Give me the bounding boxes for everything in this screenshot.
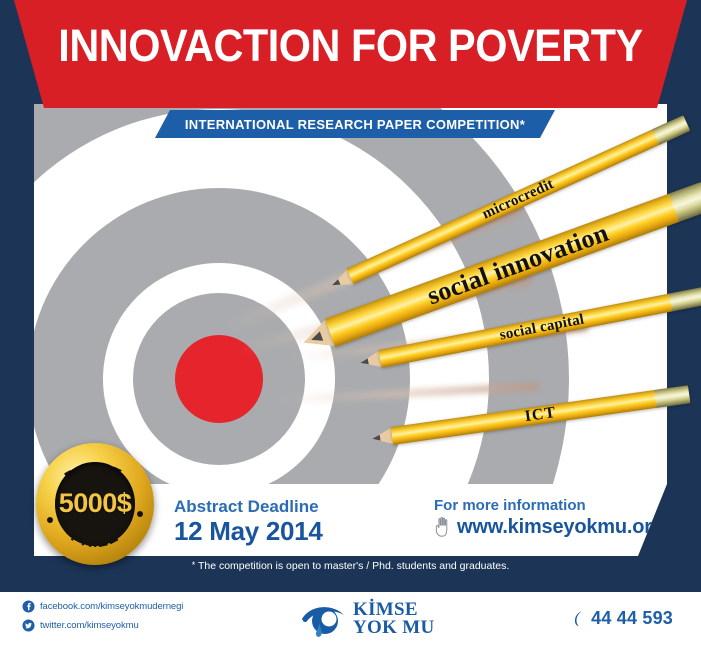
deadline-label: Abstract Deadline	[174, 496, 323, 517]
phone-contact[interactable]: 44 44 593	[572, 608, 673, 629]
logo-line-2: YOK MU	[353, 619, 434, 637]
deadline-block: Abstract Deadline 12 May 2014	[174, 496, 323, 546]
facebook-link[interactable]: facebook.com/kimseyokmudernegi	[22, 600, 183, 613]
prize-amount: 5000$	[36, 488, 154, 519]
phone-number: 44 44 593	[591, 608, 673, 629]
twitter-handle: twitter.com/kimseyokmu	[40, 620, 139, 631]
more-info-block: For more information www.kimseyokmu.org.…	[434, 496, 683, 539]
target-graphic	[34, 104, 667, 484]
eye-teardrop-icon	[299, 597, 351, 641]
page-title: INNOVACTION FOR POVERTY	[28, 23, 673, 68]
subtitle-banner: INTERNATIONAL RESEARCH PAPER COMPETITION…	[155, 110, 555, 138]
prize-badge: PRIZE PRIZE 5000$	[36, 443, 154, 565]
twitter-icon	[22, 619, 35, 632]
footer: facebook.com/kimseyokmudernegi twitter.c…	[0, 592, 701, 652]
twitter-link[interactable]: twitter.com/kimseyokmu	[22, 619, 183, 632]
more-info-url-row[interactable]: www.kimseyokmu.org.tr	[434, 516, 683, 539]
more-info-label: For more information	[434, 496, 683, 516]
facebook-handle: facebook.com/kimseyokmudernegi	[40, 601, 183, 612]
subtitle-text: INTERNATIONAL RESEARCH PAPER COMPETITION…	[185, 117, 525, 132]
pointing-hand-icon	[434, 516, 453, 538]
footnote-asterisk: *	[192, 560, 196, 570]
deadline-date: 12 May 2014	[174, 517, 323, 546]
facebook-icon	[22, 600, 35, 613]
organization-logo: KİMSE YOK MU	[299, 597, 434, 641]
title-banner: INNOVACTION FOR POVERTY	[0, 0, 701, 108]
social-links: facebook.com/kimseyokmudernegi twitter.c…	[22, 600, 183, 638]
poster: microcredit social innovation social cap…	[0, 0, 701, 652]
target-bullseye	[175, 335, 263, 423]
footnote-text: The competition is open to master's / Ph…	[198, 560, 509, 572]
phone-handset-icon	[572, 610, 586, 627]
content-plate	[34, 104, 667, 484]
logo-text: KİMSE YOK MU	[353, 601, 434, 637]
